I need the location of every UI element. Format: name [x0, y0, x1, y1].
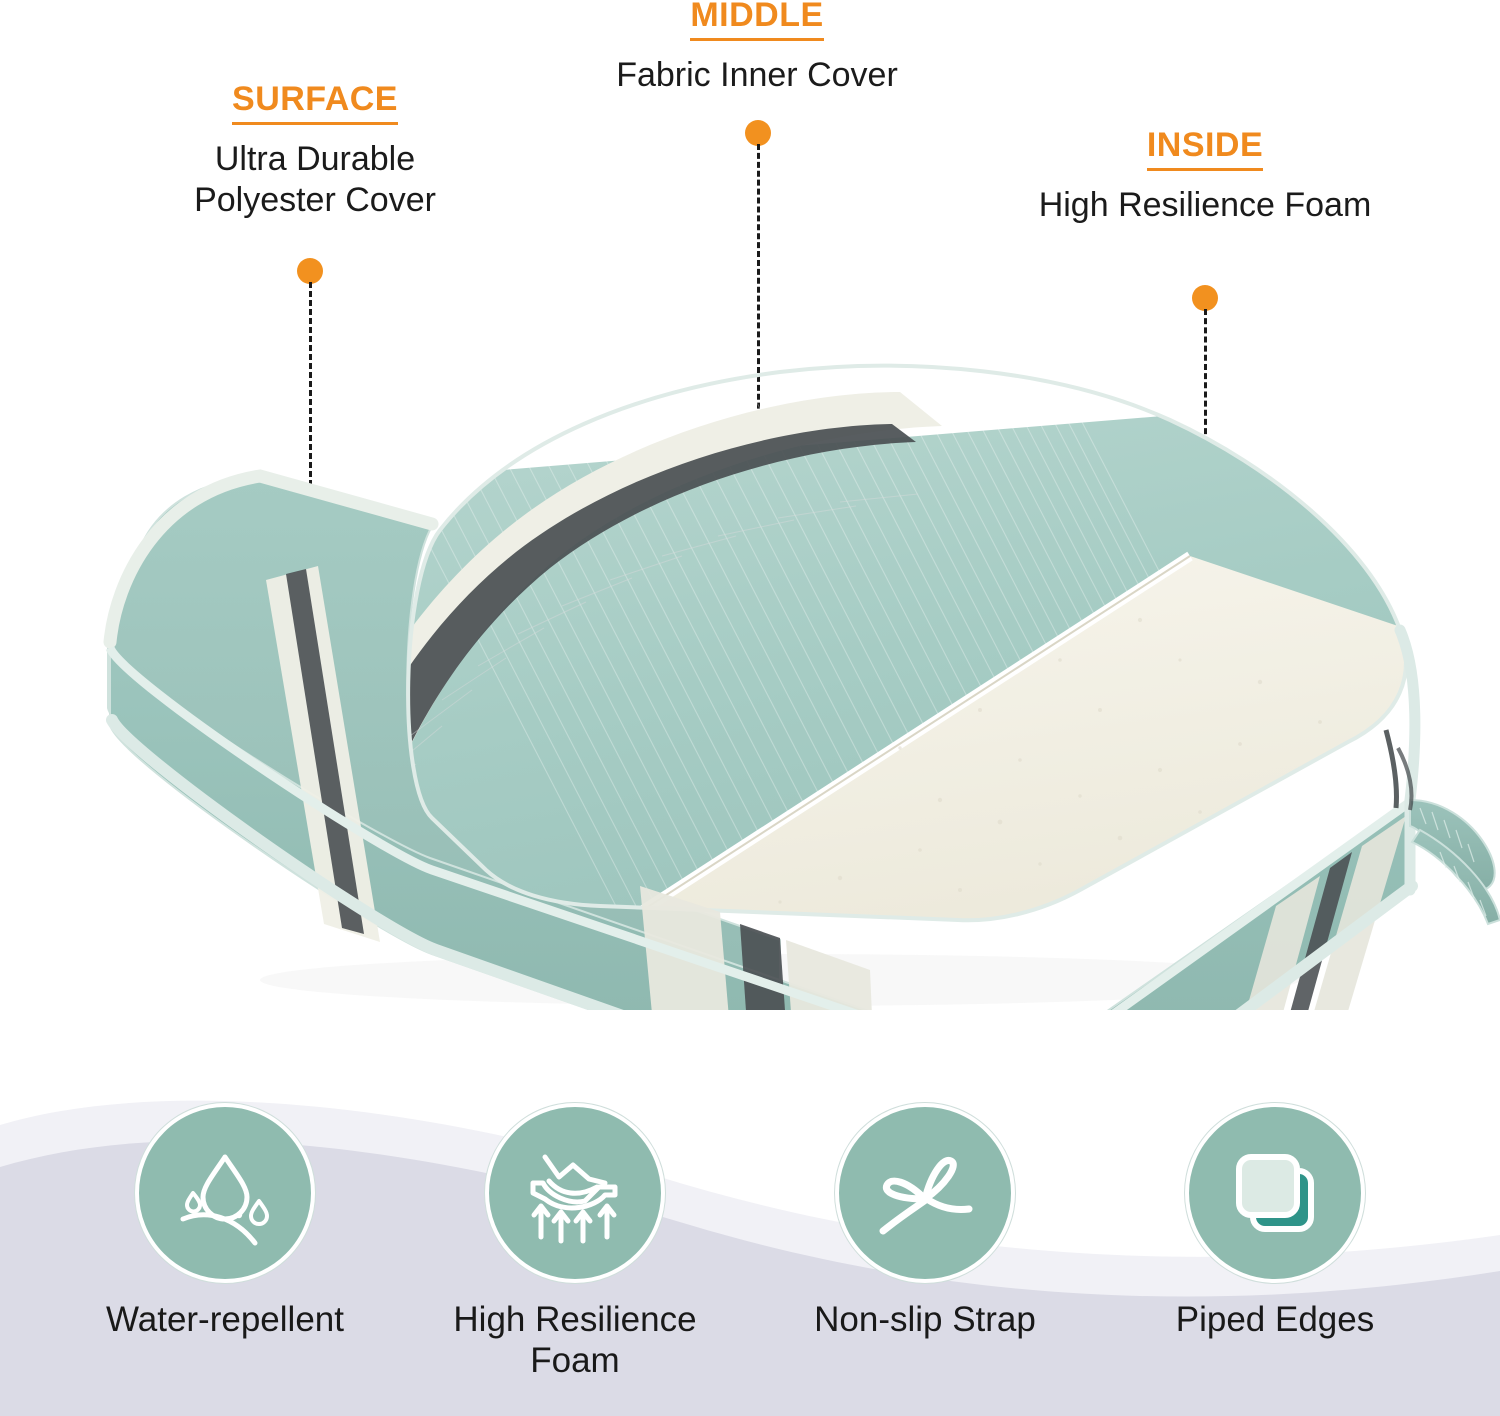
callout-middle-description: Fabric Inner Cover	[532, 55, 982, 96]
feature-badge	[1185, 1103, 1365, 1283]
leader-dot-inside	[1192, 285, 1218, 311]
leader-dot-middle	[745, 120, 771, 146]
feature-water-repellent: Water-repellent	[60, 1085, 390, 1340]
feature-band: Water-repellent	[0, 1085, 1500, 1416]
product-illustration	[80, 330, 1500, 1010]
feature-badge	[135, 1103, 315, 1283]
leader-dot-surface	[297, 258, 323, 284]
callout-inside-kicker: INSIDE	[1147, 128, 1263, 171]
feature-label: Water-repellent	[106, 1299, 344, 1340]
callout-inside: INSIDE High Resilience Foam	[980, 128, 1430, 226]
bow-strap-icon	[869, 1137, 981, 1249]
infographic-canvas: SURFACE Ultra Durable Polyester Cover MI…	[0, 0, 1500, 1416]
callout-inside-description: High Resilience Foam	[980, 185, 1430, 226]
cushion-svg	[80, 330, 1500, 1010]
feature-label: Non-slip Strap	[814, 1299, 1036, 1340]
callout-middle-kicker: MIDDLE	[690, 0, 823, 41]
water-droplet-icon	[169, 1137, 281, 1249]
feature-non-slip-strap: Non-slip Strap	[760, 1085, 1090, 1340]
feature-high-resilience-foam: High Resilience Foam	[410, 1085, 740, 1382]
callout-middle: MIDDLE Fabric Inner Cover	[532, 0, 982, 96]
callout-surface-description: Ultra Durable Polyester Cover	[90, 139, 540, 222]
feature-list: Water-repellent	[0, 1085, 1500, 1416]
feature-badge	[485, 1103, 665, 1283]
foam-rebound-icon	[519, 1137, 631, 1249]
feature-label: High Resilience Foam	[453, 1299, 696, 1382]
feature-badge	[835, 1103, 1015, 1283]
stacked-layers-icon	[1219, 1137, 1331, 1249]
callout-surface-kicker: SURFACE	[232, 82, 398, 125]
feature-label: Piped Edges	[1176, 1299, 1374, 1340]
callout-surface: SURFACE Ultra Durable Polyester Cover	[90, 82, 540, 222]
feature-piped-edges: Piped Edges	[1110, 1085, 1440, 1340]
